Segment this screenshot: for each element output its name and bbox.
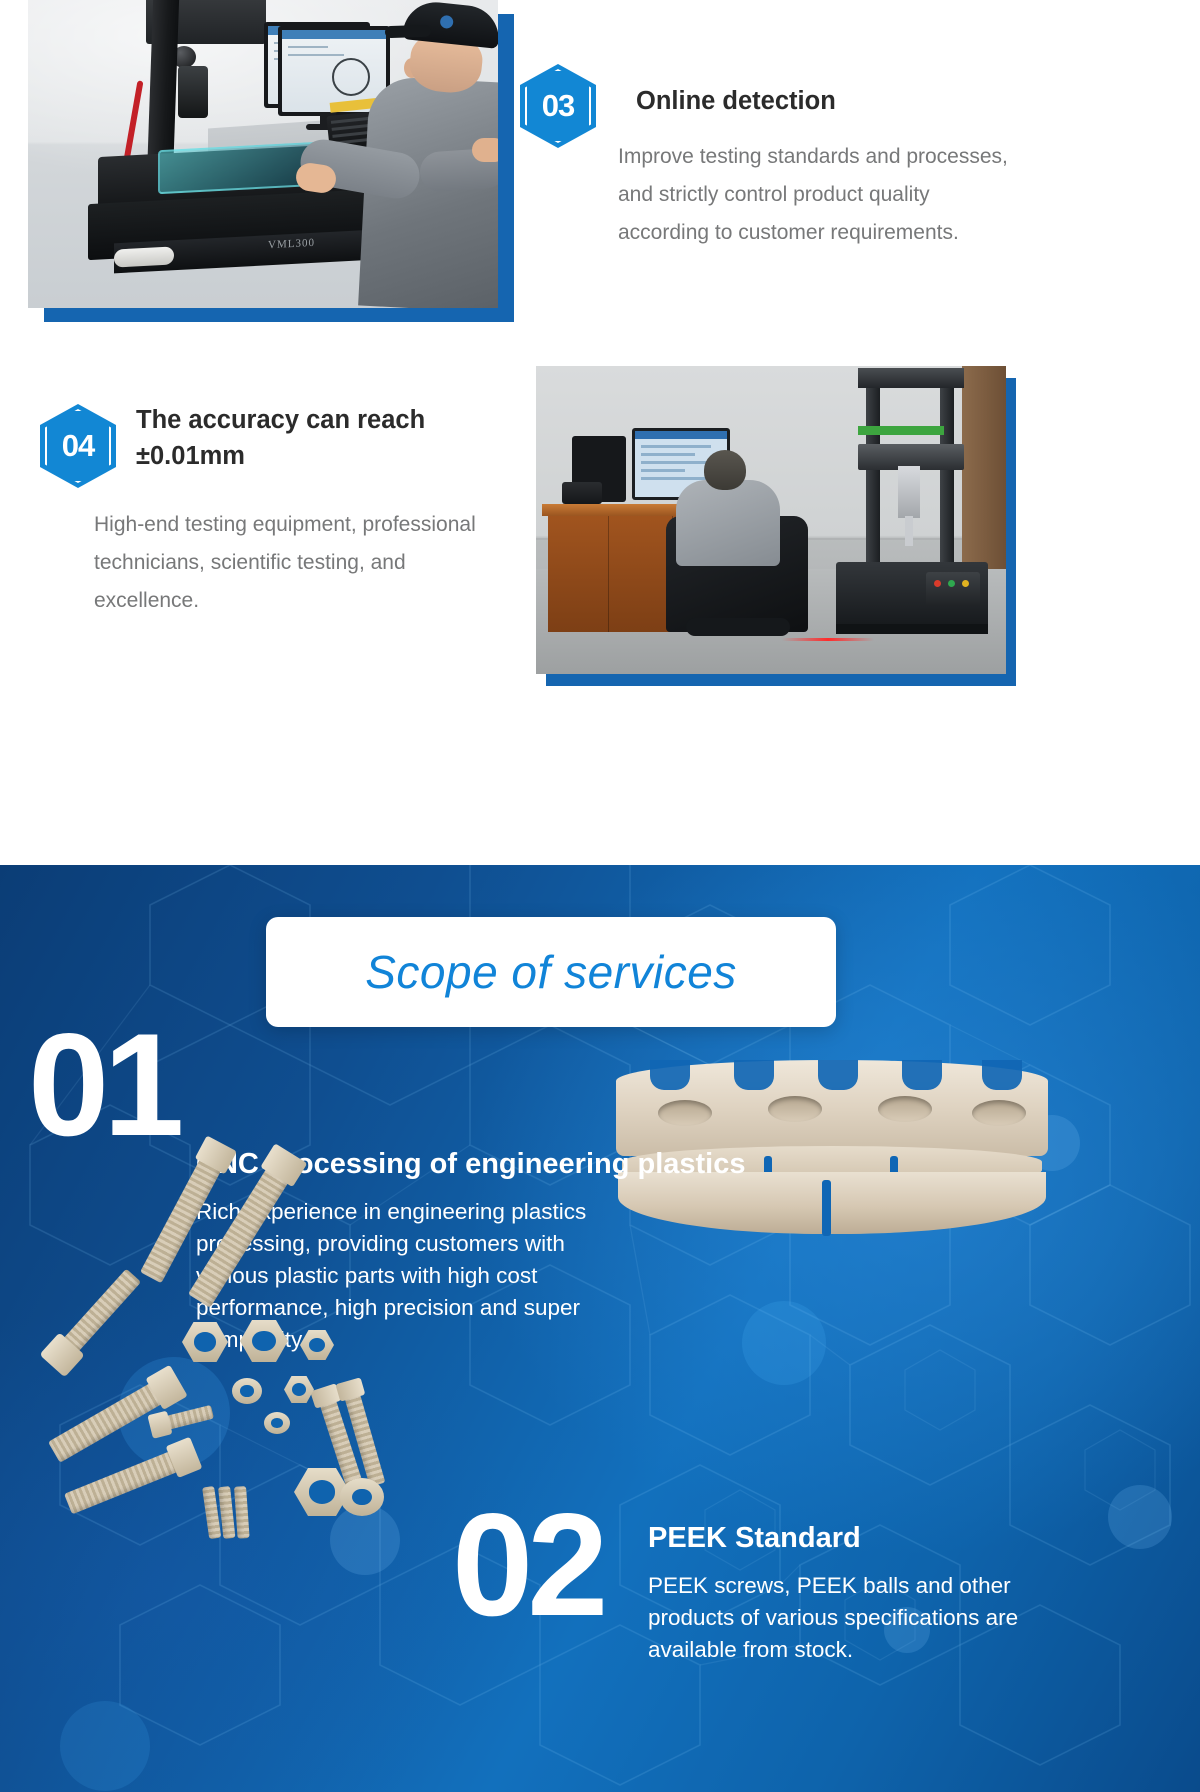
photo-image-tensile-lab	[536, 366, 1006, 674]
badge-number-03: 03	[520, 64, 596, 148]
feature-title-04: The accuracy can reach ±0.01mm	[136, 402, 486, 474]
scope-item-body-02: PEEK screws, PEEK balls and other produc…	[648, 1570, 1046, 1666]
feature-body-03: Improve testing standards and processes,…	[618, 138, 1018, 253]
scope-item-heading-02: PEEK Standard	[648, 1522, 1068, 1555]
image-peek-screws	[48, 1272, 478, 1572]
feature-title-03: Online detection	[636, 83, 1056, 119]
badge-03: 03	[520, 64, 596, 148]
scope-item-heading-01: CNC processing of engineering plastics	[196, 1148, 936, 1181]
scope-item-number-02: 02	[452, 1502, 602, 1628]
photo-accuracy-testing	[536, 366, 1016, 686]
scope-title-box: Scope of services	[266, 917, 836, 1027]
badge-number-04: 04	[40, 404, 116, 488]
page-root: VML300	[0, 0, 1200, 1792]
photo-image-metrology: VML300	[28, 0, 498, 308]
features-section: VML300	[0, 0, 1200, 865]
photo-online-detection: VML300	[28, 0, 498, 320]
machine-model-label: VML300	[268, 237, 315, 251]
scope-item-number-01: 01	[28, 1022, 178, 1148]
scope-title: Scope of services	[365, 945, 737, 999]
badge-04: 04	[40, 404, 116, 488]
feature-body-04: High-end testing equipment, professional…	[94, 506, 514, 621]
